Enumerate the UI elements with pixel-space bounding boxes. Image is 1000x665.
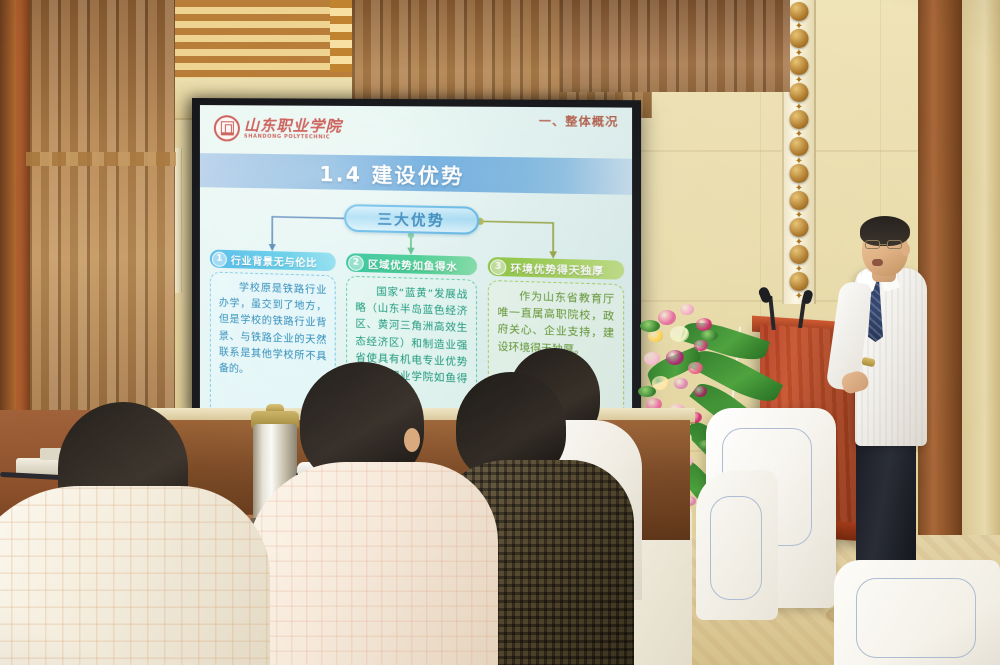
curtain-tieback (26, 152, 176, 166)
logo-chinese-name: 山东职业学院 (244, 118, 342, 134)
flower-blossom (674, 378, 688, 389)
slide-title: 1.4 建设优势 (319, 157, 464, 189)
pilaster-orb (790, 56, 809, 75)
attendee-second-body (246, 462, 498, 665)
slide-header: 山东职业学院 SHANDONG POLYTECHNIC 一、整体概况 (200, 105, 632, 159)
sofa-foreground-right (834, 560, 1000, 665)
pilaster-orb (790, 137, 809, 156)
flower-blossom (680, 304, 694, 315)
root-node-label: 三大优势 (377, 208, 445, 230)
ceiling-slats (172, 0, 352, 78)
card-2-number: 2 (348, 255, 364, 271)
pilaster-orb (790, 29, 809, 48)
card-3-number: 3 (490, 259, 506, 275)
pilaster-orb (790, 110, 809, 129)
pilaster-orb (790, 191, 809, 210)
pilaster-orb (790, 164, 809, 183)
eyeglasses-icon (864, 240, 906, 249)
pilaster-orb (790, 83, 809, 102)
flower-blossom (666, 350, 684, 365)
card-1-heading: 行业背景无与伦比 (231, 252, 317, 270)
pilaster-orb (790, 2, 809, 21)
pilaster-orb (790, 218, 809, 237)
logo-english-name: SHANDONG POLYTECHNIC (244, 134, 342, 140)
flower-foliage (700, 330, 718, 341)
conference-hall-photo: ✦✦✦✦✦✦✦✦✦✦✦ 山东职业学院 SHAND (0, 0, 1000, 665)
attendee-front-body (0, 486, 270, 665)
flower-blossom (670, 326, 689, 342)
diagram-root-node: 三大优势 (344, 204, 479, 235)
sofa-armrest (696, 470, 778, 620)
card-2-heading: 区域优势如鱼得水 (368, 255, 458, 273)
card-3-header: 3 环境优势得天独厚 (488, 257, 624, 280)
pilaster-orb (790, 272, 809, 291)
slide-breadcrumb: 一、整体概况 (539, 112, 619, 130)
flower-foliage (638, 386, 656, 397)
curtain-right (560, 0, 790, 92)
flower-blossom (694, 340, 708, 351)
card-1-header: 1 行业背景无与伦比 (210, 249, 336, 271)
institution-logo: 山东职业学院 SHANDONG POLYTECHNIC (214, 115, 342, 143)
card-2-header: 2 区域优势如鱼得水 (346, 253, 477, 275)
speaker-mouth (872, 259, 883, 266)
flower-foliage (640, 320, 660, 332)
flower-blossom (694, 386, 707, 397)
speaker-legs (856, 430, 916, 580)
seal-icon (214, 115, 240, 141)
card-3-heading: 环境优势得天独厚 (511, 259, 604, 277)
pilaster-orb (790, 245, 809, 264)
flower-blossom (644, 352, 660, 365)
card-1-number: 1 (212, 251, 227, 266)
flower-blossom (658, 310, 676, 325)
attendee-second-ear (404, 428, 420, 452)
